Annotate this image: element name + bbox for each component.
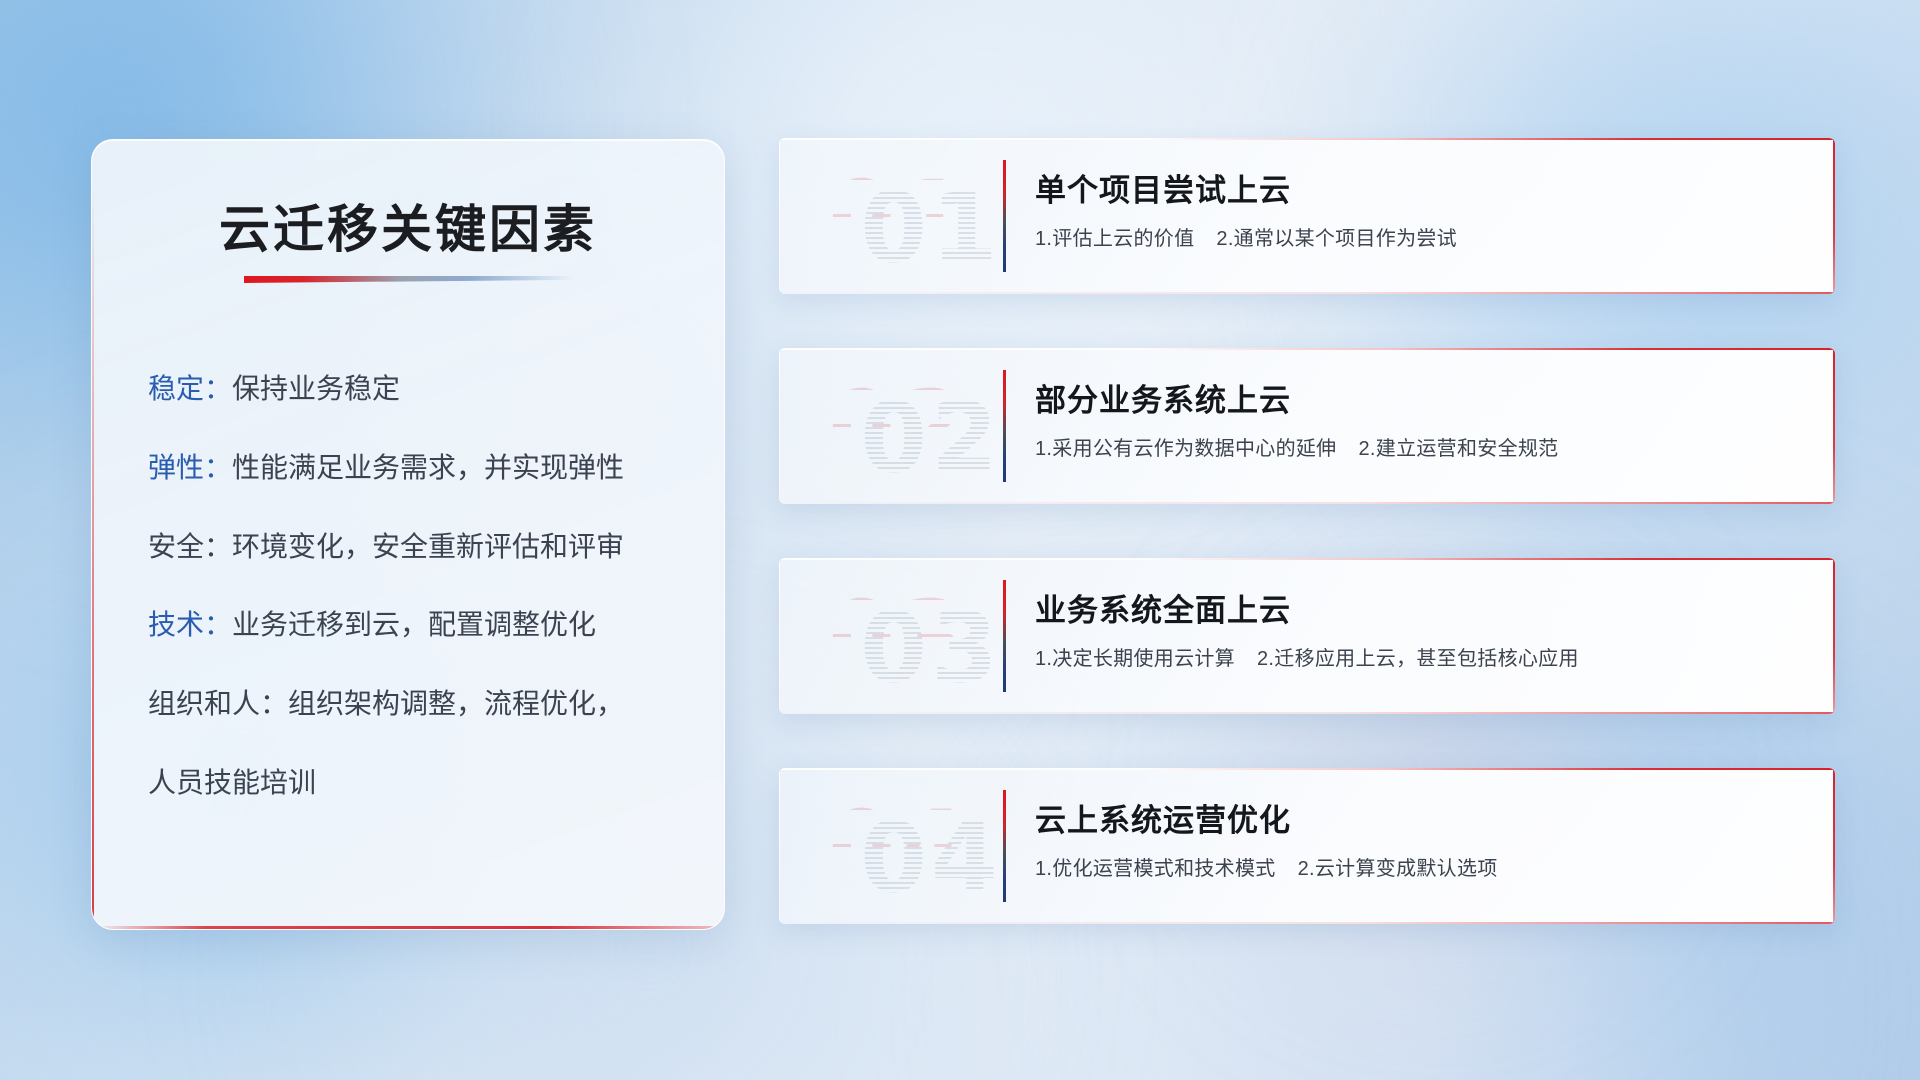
factor-text: 性能满足业务需求，并实现弹性 [232,452,624,483]
title-underline-rule [244,276,574,283]
key-factors-list: 稳定：保持业务稳定 弹性：性能满足业务需求，并实现弹性 安全：环境变化，安全重新… [92,370,724,843]
stage-number-graphic: 03 03 [811,570,987,702]
card-desc-item-2: 2.通常以某个项目作为尝试 [1216,228,1457,250]
card-edge-left [779,348,780,504]
factor-text: 保持业务稳定 [232,373,400,404]
card-title: 部分业务系统上云 [1035,375,1291,420]
card-edge-left [779,558,780,714]
factor-label: 技术： [148,609,232,640]
factor-text: 人员技能培训 [148,767,316,798]
stage-number-accent: 03 [811,570,987,702]
card-edge-right [1833,348,1835,504]
card-edge-top [779,348,1835,350]
card-desc-item-1: 1.评估上云的价值 [1035,228,1194,250]
card-title: 业务系统全面上云 [1035,585,1291,630]
stage-number-graphic: 04 04 [811,780,987,912]
stage-number-graphic: 02 02 [811,360,987,492]
list-item: 技术：业务迁移到云，配置调整优化 [148,606,668,644]
card-title: 单个项目尝试上云 [1035,165,1291,210]
stage-cards: 01 01 单个项目尝试上云 1.评估上云的价值2.通常以某个项目作为尝试 02… [779,138,1835,978]
card-description: 1.采用公有云作为数据中心的延伸2.建立运营和安全规范 [1035,432,1558,461]
key-factors-panel: 云迁移关键因素 稳定：保持业务稳定 弹性：性能满足业务需求，并实现弹性 安全：环… [91,139,725,930]
factor-label: 弹性： [148,452,232,483]
list-item: 稳定：保持业务稳定 [148,370,668,408]
card-edge-right [1833,138,1835,294]
card-edge-right [1833,558,1835,714]
card-edge-top [779,558,1835,560]
card-edge-left [779,768,780,924]
card-desc-item-2: 2.云计算变成默认选项 [1298,858,1498,880]
card-divider [1003,790,1006,902]
card-description: 1.优化运营模式和技术模式2.云计算变成默认选项 [1035,852,1498,881]
factor-text: 环境变化，安全重新评估和评审 [232,531,624,562]
stage-number-graphic: 01 01 [811,150,987,282]
stage-card[interactable]: 04 04 云上系统运营优化 1.优化运营模式和技术模式2.云计算变成默认选项 [779,768,1835,924]
card-edge-right [1833,768,1835,924]
card-edge-top [779,768,1835,770]
stage-number-accent: 01 [811,150,987,282]
stage-card[interactable]: 03 03 业务系统全面上云 1.决定长期使用云计算2.迁移应用上云，甚至包括核… [779,558,1835,714]
stage-number-accent: 02 [811,360,987,492]
card-desc-item-1: 1.决定长期使用云计算 [1035,648,1235,670]
stage-card[interactable]: 02 02 部分业务系统上云 1.采用公有云作为数据中心的延伸2.建立运营和安全… [779,348,1835,504]
card-divider [1003,160,1006,272]
card-divider [1003,370,1006,482]
list-item: 人员技能培训 [148,764,668,802]
card-description: 1.决定长期使用云计算2.迁移应用上云，甚至包括核心应用 [1035,642,1579,671]
card-desc-item-2: 2.建立运营和安全规范 [1358,438,1558,460]
card-description: 1.评估上云的价值2.通常以某个项目作为尝试 [1035,222,1457,251]
list-item: 弹性：性能满足业务需求，并实现弹性 [148,449,668,487]
card-desc-item-1: 1.优化运营模式和技术模式 [1035,858,1276,880]
card-edge-left [779,138,780,294]
factor-text: 组织架构调整，流程优化， [288,688,624,719]
list-item: 安全：环境变化，安全重新评估和评审 [148,528,668,566]
factor-label: 安全： [148,531,232,562]
stage-number-accent: 04 [811,780,987,912]
card-desc-item-2: 2.迁移应用上云，甚至包括核心应用 [1257,648,1579,670]
page-title: 云迁移关键因素 [92,188,724,262]
factor-text: 业务迁移到云，配置调整优化 [232,609,596,640]
list-item: 组织和人：组织架构调整，流程优化， [148,685,668,723]
card-divider [1003,580,1006,692]
card-edge-top [779,138,1835,140]
factor-label: 稳定： [148,373,232,404]
card-desc-item-1: 1.采用公有云作为数据中心的延伸 [1035,438,1336,460]
factor-label: 组织和人： [148,688,288,719]
stage-card[interactable]: 01 01 单个项目尝试上云 1.评估上云的价值2.通常以某个项目作为尝试 [779,138,1835,294]
card-title: 云上系统运营优化 [1035,795,1291,840]
